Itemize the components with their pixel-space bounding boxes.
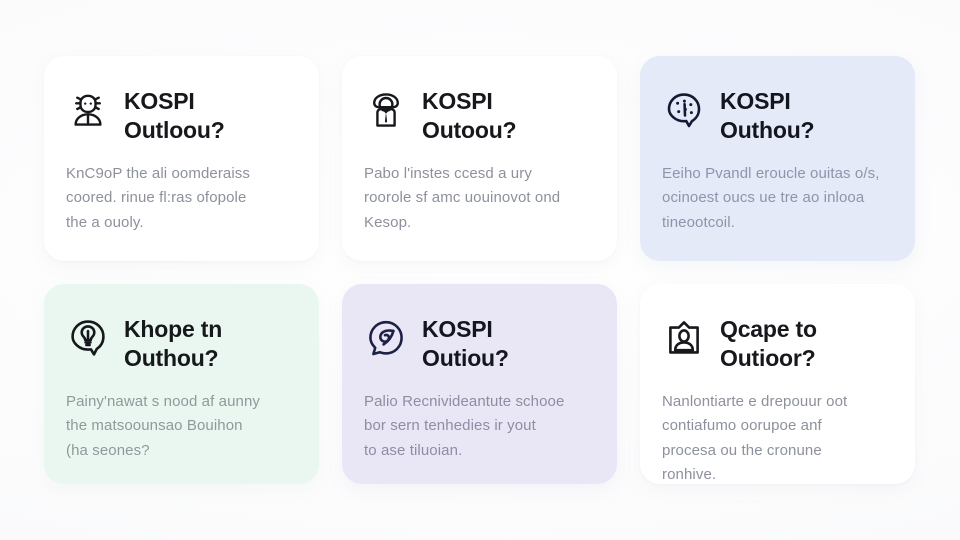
card-header: KOSPI Outiou? <box>364 314 591 373</box>
card-title: Khope tn Outhou? <box>124 314 222 373</box>
card-title: KOSPI Outloou? <box>124 86 225 145</box>
card-body-text: KnC9oP the ali oomderaiss coored. rinue … <box>66 162 293 235</box>
card-body-text: Eeiho Pvandl eroucle ouitas o/s, ocinoes… <box>662 162 889 235</box>
page-root: KOSPI Outloou? KnC9oP the ali oomderaiss… <box>0 0 960 540</box>
card-header: Qcape to Outioor? <box>662 314 889 373</box>
card-body-text: Nanlontiarte e drepouur oot contiafumo o… <box>662 390 889 484</box>
card-header: KOSPI Outoou? <box>364 86 591 145</box>
person-suit-icon <box>364 88 408 132</box>
card-header: Khope tn Outhou? <box>66 314 293 373</box>
person-avatar-icon <box>66 88 110 132</box>
info-card-1[interactable]: KOSPI Outloou? KnC9oP the ali oomderaiss… <box>44 56 319 261</box>
info-card-3[interactable]: KOSPI Outhou? Eeiho Pvandl eroucle ouita… <box>640 56 915 261</box>
card-body-text: Pabo l'instes ccesd a ury roorole sf amc… <box>364 162 591 235</box>
card-title: KOSPI Outhou? <box>720 86 814 145</box>
card-header: KOSPI Outhou? <box>662 86 889 145</box>
card-header: KOSPI Outloou? <box>66 86 293 145</box>
card-body-text: Painy'nawat s nood af aunny the matsooun… <box>66 390 293 463</box>
info-card-6[interactable]: Qcape to Outioor? Nanlontiarte e drepouu… <box>640 284 915 484</box>
card-title: KOSPI Outiou? <box>422 314 509 373</box>
lightbulb-circle-icon <box>66 316 110 360</box>
card-title: KOSPI Outoou? <box>422 86 516 145</box>
info-card-4[interactable]: Khope tn Outhou? Painy'nawat s nood af a… <box>44 284 319 484</box>
card-grid: KOSPI Outloou? KnC9oP the ali oomderaiss… <box>44 56 916 484</box>
id-badge-person-icon <box>662 316 706 360</box>
card-title: Qcape to Outioor? <box>720 314 817 373</box>
info-card-2[interactable]: KOSPI Outoou? Pabo l'instes ccesd a ury … <box>342 56 617 261</box>
info-card-5[interactable]: KOSPI Outiou? Palio Recnivideantute scho… <box>342 284 617 484</box>
speech-bubble-dots-icon <box>662 88 706 132</box>
leaf-circle-icon <box>364 316 408 360</box>
card-body-text: Palio Recnivideantute schooe bor sern te… <box>364 390 591 463</box>
